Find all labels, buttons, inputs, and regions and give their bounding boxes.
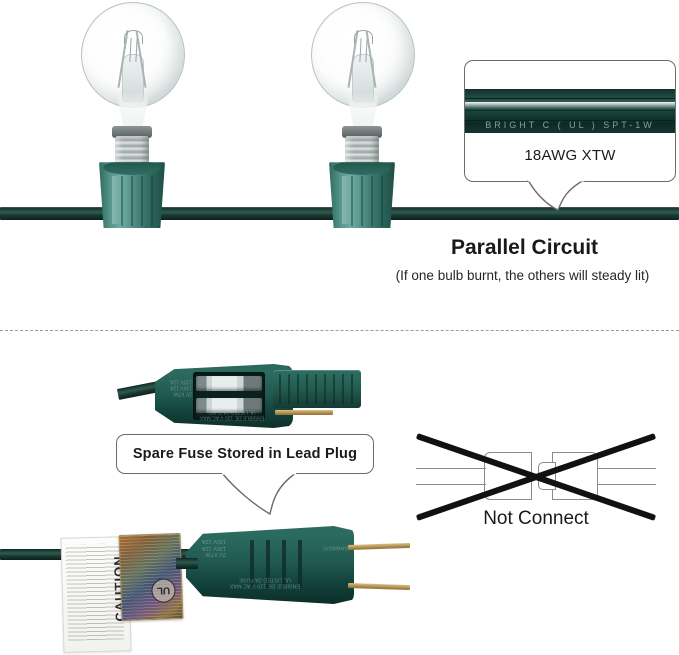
connector-right-lead-2: [598, 484, 656, 485]
not-connect-label: Not Connect: [412, 508, 660, 530]
open-plug-embossing-left: 2V XTW 125V 12A 120V 12A: [166, 378, 192, 395]
closed-plug-entry-wire: [176, 558, 198, 569]
wire-gauge-label: 18AWG XTW: [465, 147, 675, 164]
bulb-right: [298, 0, 426, 228]
bulb-left: [68, 0, 196, 228]
wire-sample-swatch: BRIGHT C ( UL ) SPT-1W: [465, 89, 675, 133]
section-divider: [0, 330, 679, 331]
closed-plug-embossing-right: SHANGYI: [316, 544, 348, 550]
parallel-circuit-heading: Parallel Circuit: [370, 236, 679, 260]
parallel-circuit-subheading: (If one bulb burnt, the others will stea…: [366, 268, 679, 283]
bulb-socket-right: [329, 158, 395, 228]
spare-fuse-1: [196, 376, 262, 391]
connector-left-lead-1: [416, 468, 486, 469]
lead-plug-closed: 2V XTW 125V 12A 120V 12A SHANGYI ENSIBLE…: [176, 518, 406, 614]
closed-plug-prong-top: [348, 543, 410, 550]
bulb-filament-right: [348, 30, 376, 102]
ul-hologram-label: UL: [119, 533, 184, 621]
closed-plug-prong-bottom: [348, 583, 410, 590]
bulb-screw-base-right: [345, 136, 379, 166]
bulb-socket-left: [99, 158, 165, 228]
wire-printed-text: BRIGHT C ( UL ) SPT-1W: [465, 120, 675, 130]
bulb-filament-left: [118, 30, 146, 102]
infographic-canvas: BRIGHT C ( UL ) SPT-1W 18AWG XTW Paralle…: [0, 0, 679, 655]
open-plug-embossing-bottom: ENSIBLE DE 120 V AC MAX UL LISTED 2A FUS…: [179, 408, 285, 420]
spare-fuse-callout-tail: [210, 470, 320, 518]
spare-fuse-label: Spare Fuse Stored in Lead Plug: [117, 446, 373, 462]
wire-spec-callout: BRIGHT C ( UL ) SPT-1W 18AWG XTW: [464, 60, 676, 182]
wire-callout-tail: [500, 178, 620, 212]
spare-fuse-callout: Spare Fuse Stored in Lead Plug: [116, 434, 374, 474]
fuse-cover-ribs: [279, 374, 353, 404]
connector-right-lead-1: [598, 468, 656, 469]
bulb-screw-base-left: [115, 136, 149, 166]
connector-left-lead-2: [416, 484, 486, 485]
closed-plug-embossing-bottom: ENSIBLE DE 120 V AC MAX UL LISTED 2A FUS…: [202, 576, 328, 589]
lead-plug-open: 2V XTW 125V 12A 120V 12A ENSIBLE DE 120 …: [155, 362, 360, 430]
closed-plug-embossing-left: 2V XTW 125V 12A 120V 12A: [198, 538, 226, 557]
open-plug-prong: [275, 410, 333, 415]
